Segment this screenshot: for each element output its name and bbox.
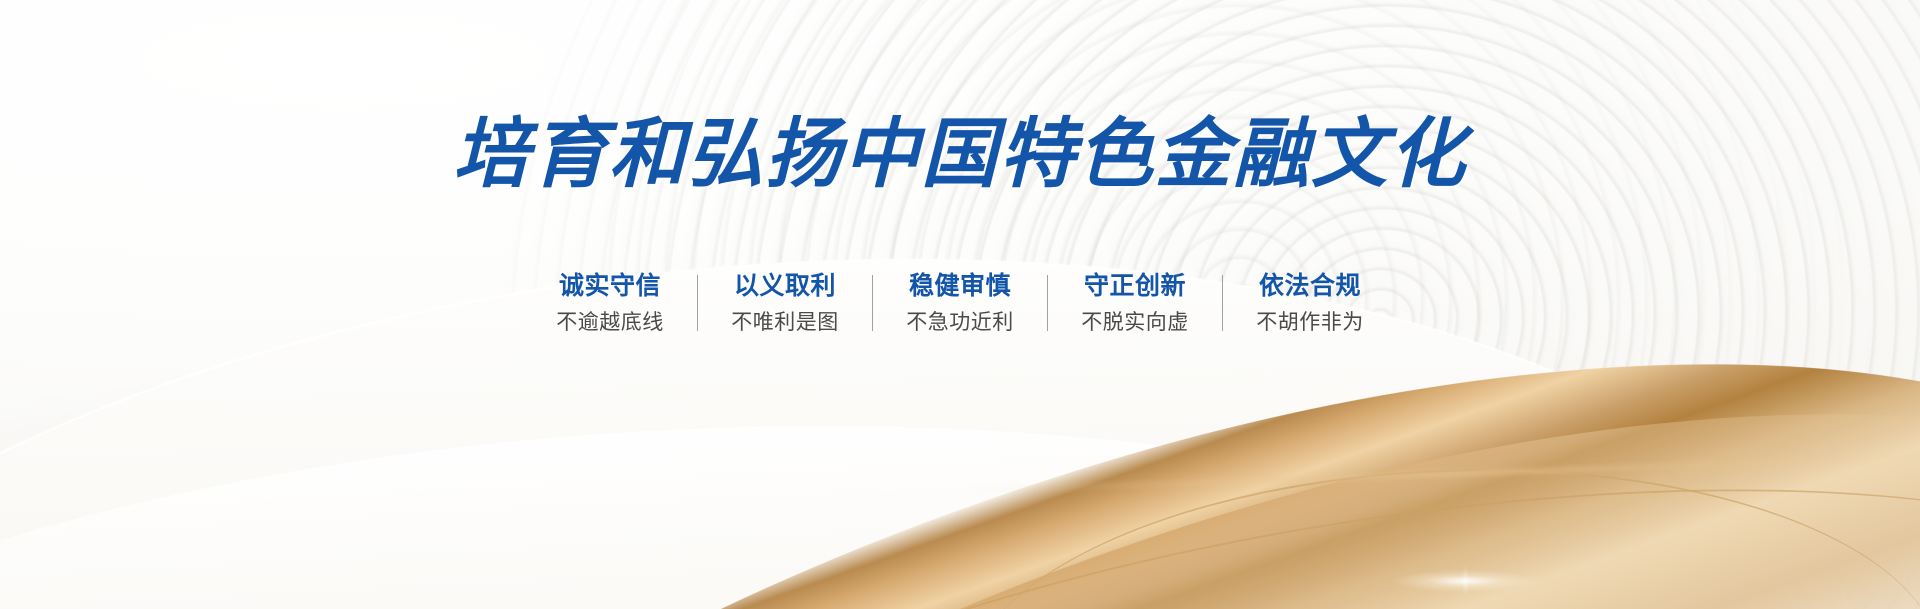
slogan-main-0: 诚实守信 [549,272,671,300]
slogan-divider-3 [1222,275,1223,331]
page-title: 培育和弘扬中国特色金融文化 [0,116,1920,192]
slogan-list: 诚实守信 不逾越底线 以义取利 不唯利是图 稳健审慎 不急功近利 守正创新 不脱… [0,272,1920,334]
slogan-sub-1: 不唯利是图 [724,311,846,334]
slogan-main-3: 守正创新 [1074,272,1196,300]
slogan-item-2: 稳健审慎 不急功近利 [899,272,1021,334]
slogan-item-1: 以义取利 不唯利是图 [724,272,846,334]
slogan-sub-4: 不胡作非为 [1249,311,1371,334]
slogan-main-2: 稳健审慎 [899,272,1021,300]
slogan-item-4: 依法合规 不胡作非为 [1249,272,1371,334]
slogan-main-4: 依法合规 [1249,272,1371,300]
sparkle-glint [1390,570,1540,592]
slogan-divider-1 [872,275,873,331]
slogan-sub-3: 不脱实向虚 [1074,311,1196,334]
slogan-main-1: 以义取利 [724,272,846,300]
slogan-sub-0: 不逾越底线 [549,311,671,334]
slogan-sub-2: 不急功近利 [899,311,1021,334]
slogan-item-0: 诚实守信 不逾越底线 [549,272,671,334]
slogan-divider-0 [697,275,698,331]
finance-culture-banner: 培育和弘扬中国特色金融文化 诚实守信 不逾越底线 以义取利 不唯利是图 稳健审慎… [0,0,1920,609]
slogan-divider-2 [1047,275,1048,331]
slogan-item-3: 守正创新 不脱实向虚 [1074,272,1196,334]
